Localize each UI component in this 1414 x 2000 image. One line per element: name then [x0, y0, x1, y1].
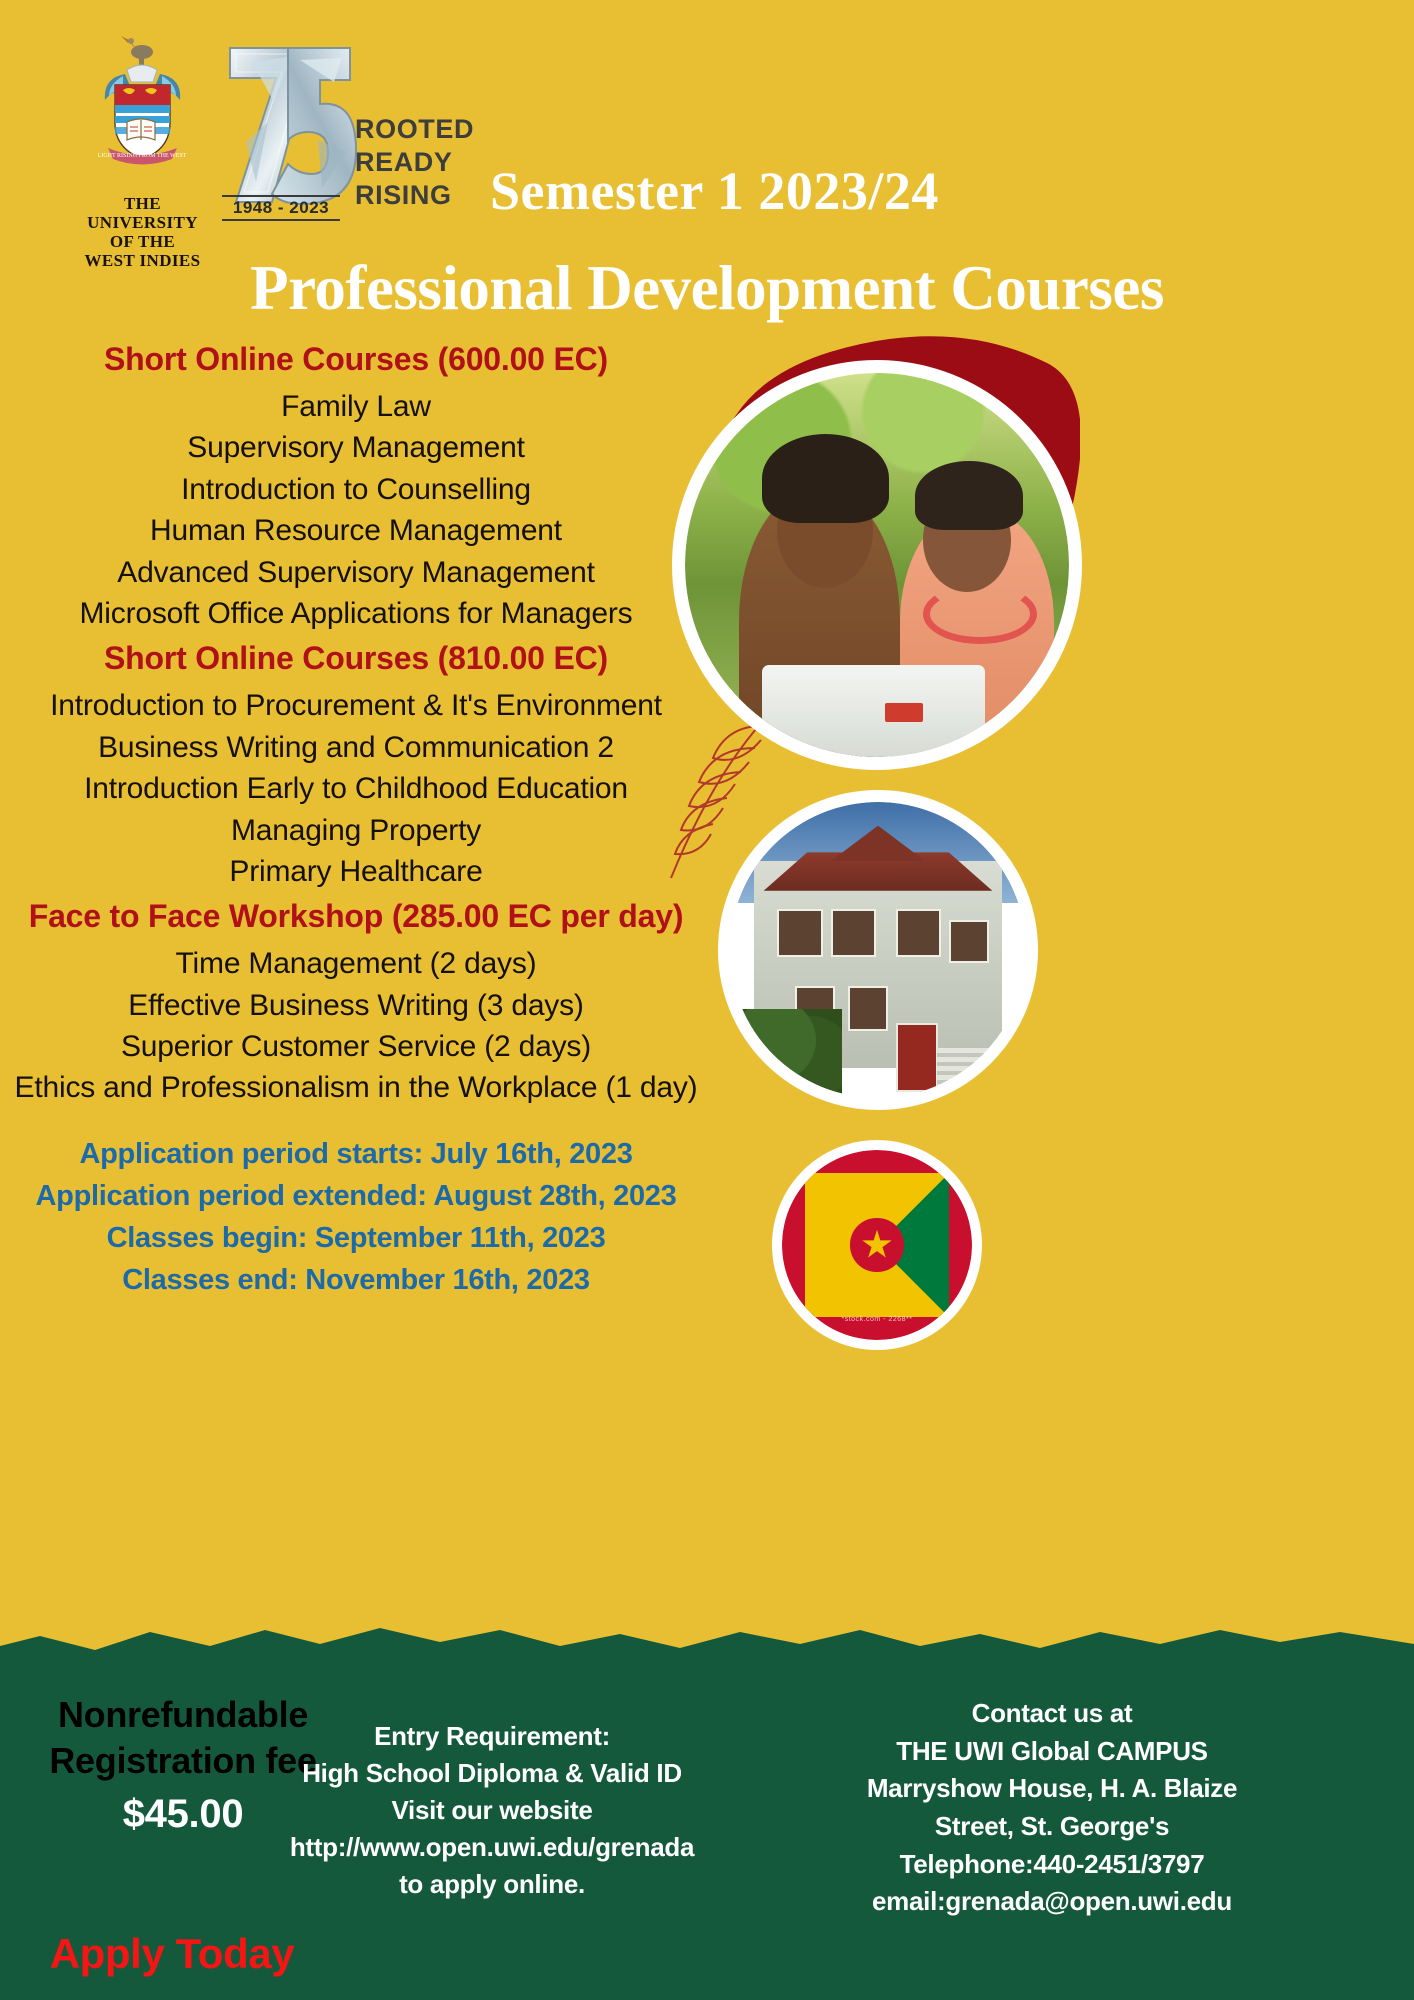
- photo-marryshow-house: [718, 790, 1038, 1110]
- entry-requirement-block: Entry Requirement: High School Diploma &…: [262, 1718, 722, 1903]
- course-section: Face to Face Workshop (285.00 EC per day…: [0, 898, 712, 1109]
- course-item: Advanced Supervisory Management: [0, 552, 712, 593]
- course-item: Primary Healthcare: [0, 851, 712, 892]
- contact-address-line1: Marryshow House, H. A. Blaize: [712, 1770, 1392, 1808]
- course-item: Superior Customer Service (2 days): [0, 1026, 712, 1067]
- course-item: Human Resource Management: [0, 510, 712, 551]
- page-title: Professional Development Courses: [0, 252, 1414, 325]
- uwi-crest-logo: LIGHT RISING FROM THE WEST THE UNIVERSIT…: [75, 30, 210, 270]
- entry-line-5: to apply online.: [262, 1866, 722, 1903]
- tagline-rising: RISING: [355, 179, 474, 212]
- flag-watermark: *stock.com - 2268**: [782, 1316, 972, 1323]
- apply-today-cta[interactable]: Apply Today: [22, 1930, 322, 1978]
- contact-email[interactable]: email:grenada@open.uwi.edu: [712, 1883, 1392, 1921]
- photo-grenada-flag: *stock.com - 2268**: [772, 1140, 982, 1350]
- course-item: Introduction to Procurement & It's Envir…: [0, 685, 712, 726]
- entry-line-2: High School Diploma & Valid ID: [262, 1755, 722, 1792]
- date-application-extended: Application period extended: August 28th…: [0, 1175, 712, 1217]
- date-application-starts: Application period starts: July 16th, 20…: [0, 1133, 712, 1175]
- svg-text:LIGHT RISING FROM THE WEST: LIGHT RISING FROM THE WEST: [98, 153, 187, 159]
- course-item: Ethics and Professionalism in the Workpl…: [0, 1067, 712, 1108]
- course-listing-column: Short Online Courses (600.00 EC) Family …: [0, 335, 712, 1301]
- contact-info-block: Contact us at THE UWI Global CAMPUS Marr…: [712, 1695, 1392, 1921]
- section-heading-workshop: Face to Face Workshop (285.00 EC per day…: [0, 898, 712, 935]
- course-item: Introduction to Counselling: [0, 469, 712, 510]
- entry-line-3: Visit our website: [262, 1792, 722, 1829]
- contact-line-1: Contact us at: [712, 1695, 1392, 1733]
- tagline-ready: READY: [355, 146, 474, 179]
- course-section: Short Online Courses (600.00 EC) Family …: [0, 341, 712, 634]
- course-item: Introduction Early to Childhood Educatio…: [0, 768, 712, 809]
- date-classes-begin: Classes begin: September 11th, 2023: [0, 1217, 712, 1259]
- course-item: Supervisory Management: [0, 427, 712, 468]
- contact-address-line2: Street, St. George's: [712, 1808, 1392, 1846]
- anniversary-years: 1948 - 2023: [222, 195, 340, 221]
- course-item: Microsoft Office Applications for Manage…: [0, 593, 712, 634]
- coat-of-arms-icon: LIGHT RISING FROM THE WEST: [75, 30, 210, 190]
- date-classes-end: Classes end: November 16th, 2023: [0, 1259, 712, 1301]
- contact-campus-name: THE UWI Global CAMPUS: [712, 1733, 1392, 1771]
- semester-label: Semester 1 2023/24: [490, 160, 1130, 222]
- course-item: Business Writing and Communication 2: [0, 727, 712, 768]
- course-section: Short Online Courses (810.00 EC) Introdu…: [0, 640, 712, 892]
- section-heading-810ec: Short Online Courses (810.00 EC): [0, 640, 712, 677]
- entry-line-1: Entry Requirement:: [262, 1718, 722, 1755]
- course-item: Effective Business Writing (3 days): [0, 985, 712, 1026]
- contact-telephone[interactable]: Telephone:440-2451/3797: [712, 1846, 1392, 1884]
- tagline-rooted: ROOTED: [355, 113, 474, 146]
- photo-students-with-laptop: [672, 360, 1082, 770]
- website-url-link[interactable]: http://www.open.uwi.edu/grenada: [262, 1829, 722, 1866]
- university-name-line1: THE UNIVERSITY: [75, 194, 210, 232]
- course-item: Managing Property: [0, 810, 712, 851]
- university-name-line2: OF THE: [75, 232, 210, 251]
- key-dates-list: Application period starts: July 16th, 20…: [0, 1133, 712, 1301]
- course-item: Family Law: [0, 386, 712, 427]
- course-item: Time Management (2 days): [0, 943, 712, 984]
- anniversary-tagline: ROOTED READY RISING: [355, 113, 474, 212]
- torn-edge-divider: [0, 1624, 1414, 1664]
- poster-root: LIGHT RISING FROM THE WEST THE UNIVERSIT…: [0, 0, 1414, 2000]
- section-heading-600ec: Short Online Courses (600.00 EC): [0, 341, 712, 378]
